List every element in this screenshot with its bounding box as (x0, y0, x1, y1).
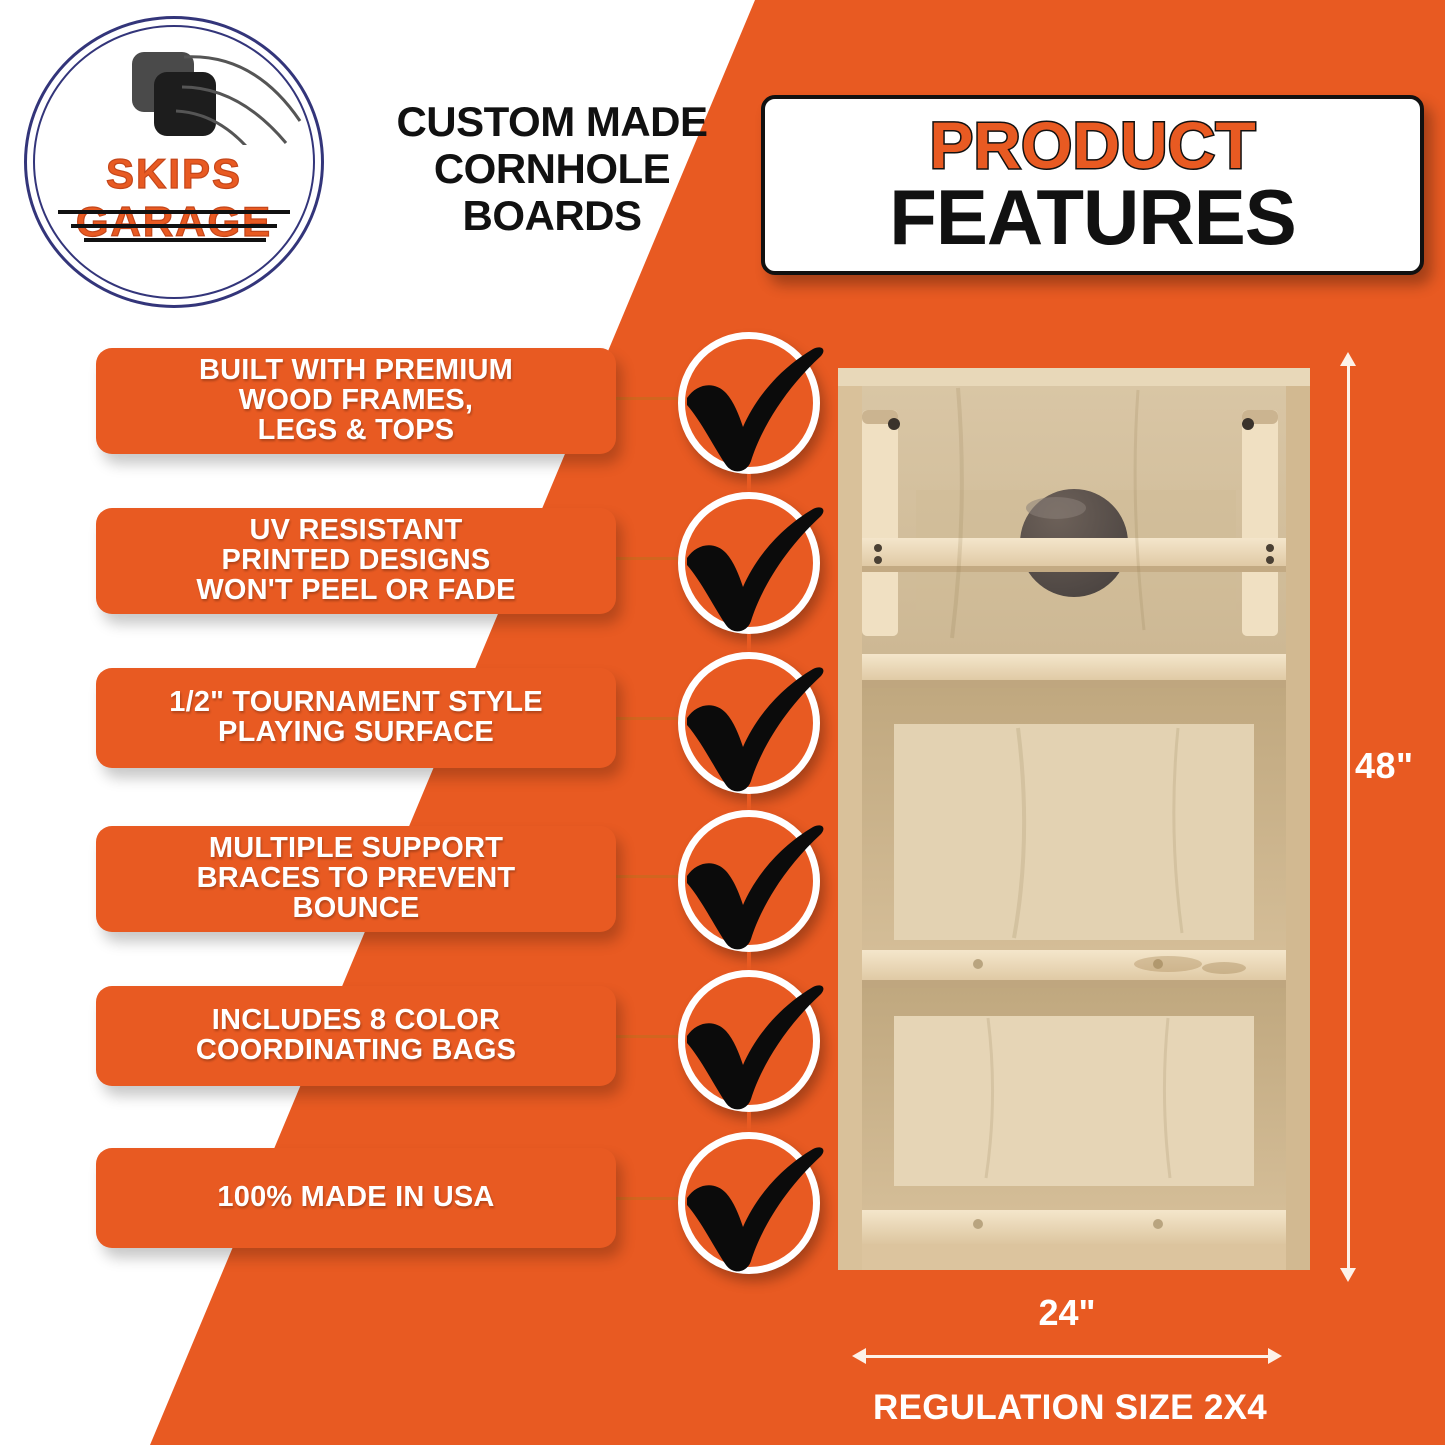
product-features-title-top: PRODUCT (929, 114, 1255, 177)
arrow-down-icon (1340, 1268, 1356, 1282)
feature-pill: MULTIPLE SUPPORT BRACES TO PREVENT BOUNC… (96, 826, 616, 932)
feature-list: BUILT WITH PREMIUM WOOD FRAMES, LEGS & T… (0, 340, 840, 1280)
feature-pill: 1/2" TOURNAMENT STYLE PLAYING SURFACE (96, 668, 616, 768)
cornhole-board-illustration (838, 368, 1310, 1270)
feature-pill: INCLUDES 8 COLOR COORDINATING BAGS (96, 986, 616, 1086)
feature-label: MULTIPLE SUPPORT BRACES TO PREVENT BOUNC… (197, 834, 516, 924)
check-icon (681, 981, 831, 1115)
logo-wordmark: SKIPS GARAGE (14, 150, 334, 246)
logo-rule-3 (84, 238, 266, 242)
check-icon (681, 663, 831, 797)
feature-check-badge (678, 1132, 820, 1274)
feature-check-badge (678, 492, 820, 634)
check-icon (681, 503, 831, 637)
width-dimension-arrow (852, 1346, 1282, 1368)
product-features-title-bottom: FEATURES (889, 179, 1296, 255)
feature-check-badge (678, 332, 820, 474)
feature-pill: UV RESISTANT PRINTED DESIGNS WON'T PEEL … (96, 508, 616, 614)
height-dimension-label: 48" (1355, 745, 1414, 787)
product-features-banner: PRODUCT FEATURES (761, 95, 1424, 275)
feature-label: 100% MADE IN USA (217, 1183, 494, 1213)
feature-pill: BUILT WITH PREMIUM WOOD FRAMES, LEGS & T… (96, 348, 616, 454)
feature-item: INCLUDES 8 COLOR COORDINATING BAGS (0, 978, 840, 1128)
height-dimension-arrow (1338, 352, 1360, 1282)
logo-rule-1 (58, 210, 290, 214)
motion-arcs-icon (174, 45, 314, 145)
feature-item: BUILT WITH PREMIUM WOOD FRAMES, LEGS & T… (0, 340, 840, 490)
feature-item: 1/2" TOURNAMENT STYLE PLAYING SURFACE (0, 660, 840, 810)
dimension-line-horizontal (862, 1355, 1272, 1358)
dimension-line-vertical (1347, 362, 1350, 1272)
feature-item: 100% MADE IN USA (0, 1140, 840, 1290)
logo-rule-2 (71, 224, 277, 228)
width-dimension-label: 24" (852, 1292, 1282, 1334)
feature-label: UV RESISTANT PRINTED DESIGNS WON'T PEEL … (196, 516, 515, 606)
arrow-right-icon (1268, 1348, 1282, 1364)
regulation-size-label: REGULATION SIZE 2X4 (810, 1388, 1330, 1428)
check-icon (681, 821, 831, 955)
check-icon (681, 1143, 831, 1277)
feature-label: 1/2" TOURNAMENT STYLE PLAYING SURFACE (169, 688, 543, 748)
feature-pill: 100% MADE IN USA (96, 1148, 616, 1248)
feature-item: UV RESISTANT PRINTED DESIGNS WON'T PEEL … (0, 500, 840, 650)
brand-logo: SKIPS GARAGE (14, 10, 334, 310)
feature-check-badge (678, 810, 820, 952)
feature-check-badge (678, 652, 820, 794)
page-headline: CUSTOM MADE CORNHOLE BOARDS (352, 98, 752, 239)
feature-label: INCLUDES 8 COLOR COORDINATING BAGS (196, 1006, 516, 1066)
check-icon (681, 343, 831, 477)
feature-label: BUILT WITH PREMIUM WOOD FRAMES, LEGS & T… (199, 356, 513, 446)
feature-check-badge (678, 970, 820, 1112)
cornhole-board-photo (838, 368, 1310, 1270)
feature-item: MULTIPLE SUPPORT BRACES TO PREVENT BOUNC… (0, 818, 840, 968)
